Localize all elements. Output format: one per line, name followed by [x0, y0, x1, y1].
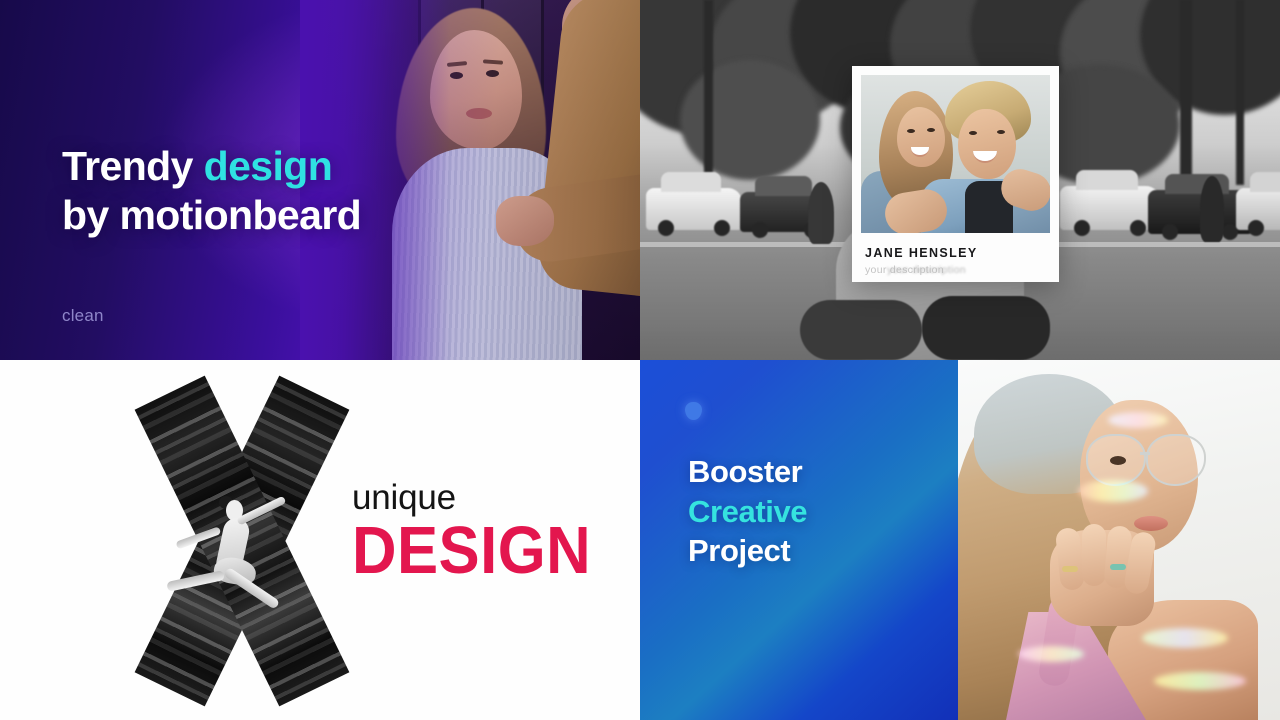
- polaroid-name-label: JANE HENSLEY: [865, 246, 1050, 260]
- panel-unique-design[interactable]: unique DESIGN: [0, 360, 640, 720]
- panel-trendy-design[interactable]: Trendy design by motionbeard clean: [0, 0, 640, 360]
- ballet-dancer-silhouette: [186, 496, 298, 646]
- trendy-design-subtext: clean: [62, 306, 104, 326]
- polaroid-description-label: your description your description: [865, 264, 1050, 276]
- polaroid-photo: [861, 75, 1050, 233]
- slide-grid: Trendy design by motionbeard clean: [0, 0, 1280, 720]
- panel-booster-creative[interactable]: Booster Creative Project: [640, 360, 1280, 720]
- polaroid-description-blur-ghost: your description: [887, 264, 966, 276]
- booster-line-2: Creative: [688, 492, 807, 532]
- design-label: DESIGN: [352, 519, 591, 583]
- booster-line-1: Booster: [688, 452, 807, 492]
- accent-dot-icon: [685, 402, 702, 420]
- polaroid-card[interactable]: JANE HENSLEY your description your descr…: [852, 66, 1059, 282]
- headline-accent-word: design: [204, 143, 333, 189]
- booster-headline: Booster Creative Project: [688, 452, 807, 571]
- booster-photo: [958, 360, 1280, 720]
- headline-plain-part: Trendy: [62, 143, 204, 189]
- booster-line-3: Project: [688, 531, 807, 571]
- blue-gradient-panel: Booster Creative Project: [640, 360, 958, 720]
- unique-label: unique: [352, 480, 612, 515]
- panel-polaroid-card[interactable]: JANE HENSLEY your description your descr…: [640, 0, 1280, 360]
- headline-second-line: by motionbeard: [62, 192, 361, 238]
- trendy-design-headline: Trendy design by motionbeard: [62, 142, 361, 240]
- unique-design-copy: unique DESIGN: [352, 480, 612, 583]
- x-logo: [118, 408, 366, 673]
